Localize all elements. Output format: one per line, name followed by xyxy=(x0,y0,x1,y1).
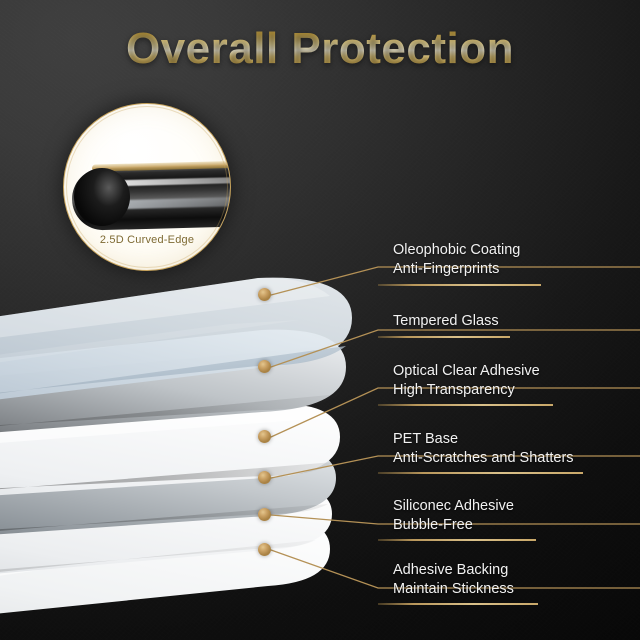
callout-rule-2 xyxy=(378,336,510,338)
callout-dot-5 xyxy=(258,508,271,521)
callout-label-1: Oleophobic Coating Anti-Fingerprints xyxy=(393,241,520,279)
callout-line-1b: Anti-Fingerprints xyxy=(393,260,520,279)
protector-infographic: Overall Protection 2.5D Curved-Edge Oleo… xyxy=(0,0,640,640)
callout-rule-5 xyxy=(378,539,536,541)
callout-label-4: PET Base Anti-Scratches and Shatters xyxy=(393,430,574,468)
glass-edge-rounded-cap xyxy=(74,168,130,226)
background-gradient xyxy=(0,0,640,640)
callout-line-3a: Optical Clear Adhesive xyxy=(393,363,540,379)
curved-edge-inset: 2.5D Curved-Edge xyxy=(63,103,231,271)
callout-label-5: Siliconec Adhesive Bubble-Free xyxy=(393,497,514,535)
callout-label-2: Tempered Glass xyxy=(393,312,499,331)
callout-dot-6 xyxy=(258,543,271,556)
callout-dot-3 xyxy=(258,430,271,443)
callout-line-5a: Siliconec Adhesive xyxy=(393,498,514,514)
page-title: Overall Protection xyxy=(0,26,640,72)
callout-rule-1 xyxy=(378,284,541,286)
callout-line-6b: Maintain Stickness xyxy=(393,580,514,599)
callout-line-3b: High Transparency xyxy=(393,381,540,400)
callout-line-6a: Adhesive Backing xyxy=(393,562,508,578)
callout-rule-4 xyxy=(378,472,583,474)
callout-label-6: Adhesive Backing Maintain Stickness xyxy=(393,561,514,599)
callout-label-3: Optical Clear Adhesive High Transparency xyxy=(393,362,540,400)
callout-line-2a: Tempered Glass xyxy=(393,313,499,329)
callout-line-5b: Bubble-Free xyxy=(393,516,514,535)
callout-line-4a: PET Base xyxy=(393,431,458,447)
inset-caption: 2.5D Curved-Edge xyxy=(64,234,230,246)
callout-dot-1 xyxy=(258,288,271,301)
callout-dot-2 xyxy=(258,360,271,373)
callout-dot-4 xyxy=(258,471,271,484)
callout-rule-6 xyxy=(378,603,538,605)
callout-line-4b: Anti-Scratches and Shatters xyxy=(393,449,574,468)
callout-line-1a: Oleophobic Coating xyxy=(393,242,520,258)
callout-rule-3 xyxy=(378,404,553,406)
